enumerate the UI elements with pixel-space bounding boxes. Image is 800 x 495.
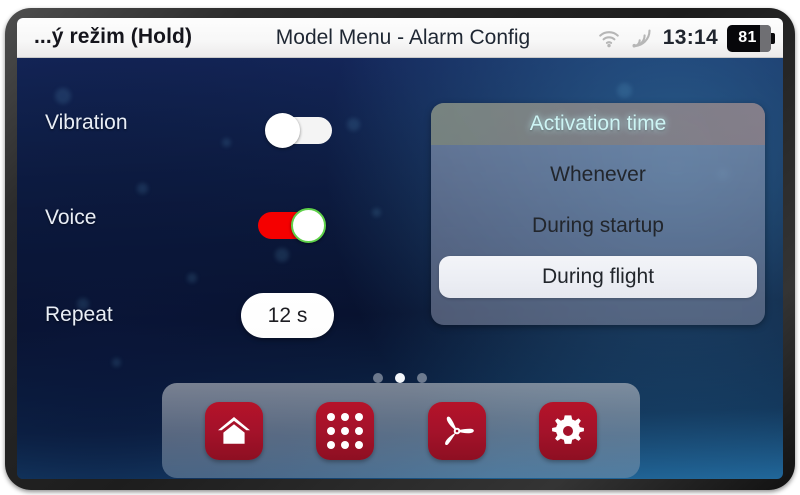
battery-fill xyxy=(760,25,771,52)
bokeh-dot xyxy=(347,118,360,131)
page-dot[interactable] xyxy=(417,373,427,383)
battery-percent: 81 xyxy=(738,29,759,47)
battery-indicator: 81 xyxy=(727,25,771,52)
bokeh-dot xyxy=(187,273,197,283)
page-dot[interactable] xyxy=(373,373,383,383)
home-icon xyxy=(216,414,252,448)
setting-label-repeat: Repeat xyxy=(45,303,113,327)
bokeh-dot xyxy=(112,358,121,367)
wifi-icon xyxy=(597,28,621,48)
transmitter-device-frame: Model Menu - Alarm Config ...ý režim (Ho… xyxy=(5,8,795,490)
bokeh-dot xyxy=(55,88,71,104)
bokeh-dot xyxy=(372,208,381,217)
bokeh-dot xyxy=(222,138,231,147)
dock-apps-button[interactable] xyxy=(316,402,374,460)
signal-icon xyxy=(630,28,654,48)
bokeh-dot xyxy=(137,183,148,194)
dock-model-button[interactable] xyxy=(428,402,486,460)
clock: 13:14 xyxy=(663,26,718,50)
status-bar-right-cluster: 13:14 81 xyxy=(597,18,771,58)
setting-label-voice: Voice xyxy=(45,206,96,230)
propeller-icon xyxy=(437,412,477,450)
toggle-knob xyxy=(265,113,300,148)
voice-toggle[interactable] xyxy=(258,212,322,239)
repeat-value-button[interactable]: 12 s xyxy=(241,293,334,338)
bokeh-dot xyxy=(617,83,632,98)
option-during-flight[interactable]: During flight xyxy=(439,256,757,298)
device-screen: Model Menu - Alarm Config ...ý režim (Ho… xyxy=(17,18,783,479)
dock-settings-button[interactable] xyxy=(539,402,597,460)
option-during-startup[interactable]: During startup xyxy=(439,205,757,247)
wallpaper: Vibration Voice Repeat 12 s Activation t… xyxy=(17,58,783,479)
gear-icon xyxy=(550,413,586,449)
status-bar: Model Menu - Alarm Config ...ý režim (Ho… xyxy=(17,18,783,58)
page-indicator xyxy=(17,373,783,383)
toggle-knob xyxy=(291,208,326,243)
activation-time-panel: Activation time Whenever During startup … xyxy=(431,103,765,325)
apps-grid-icon xyxy=(327,413,363,449)
dock-bar xyxy=(162,383,640,478)
page-dot-active[interactable] xyxy=(395,373,405,383)
battery-nub xyxy=(771,33,775,44)
setting-label-vibration: Vibration xyxy=(45,111,128,135)
dock-home-button[interactable] xyxy=(205,402,263,460)
bokeh-dot xyxy=(275,248,289,262)
vibration-toggle[interactable] xyxy=(268,117,332,144)
panel-header: Activation time xyxy=(431,103,765,145)
option-whenever[interactable]: Whenever xyxy=(439,154,757,196)
flight-mode-label: ...ý režim (Hold) xyxy=(34,25,192,49)
